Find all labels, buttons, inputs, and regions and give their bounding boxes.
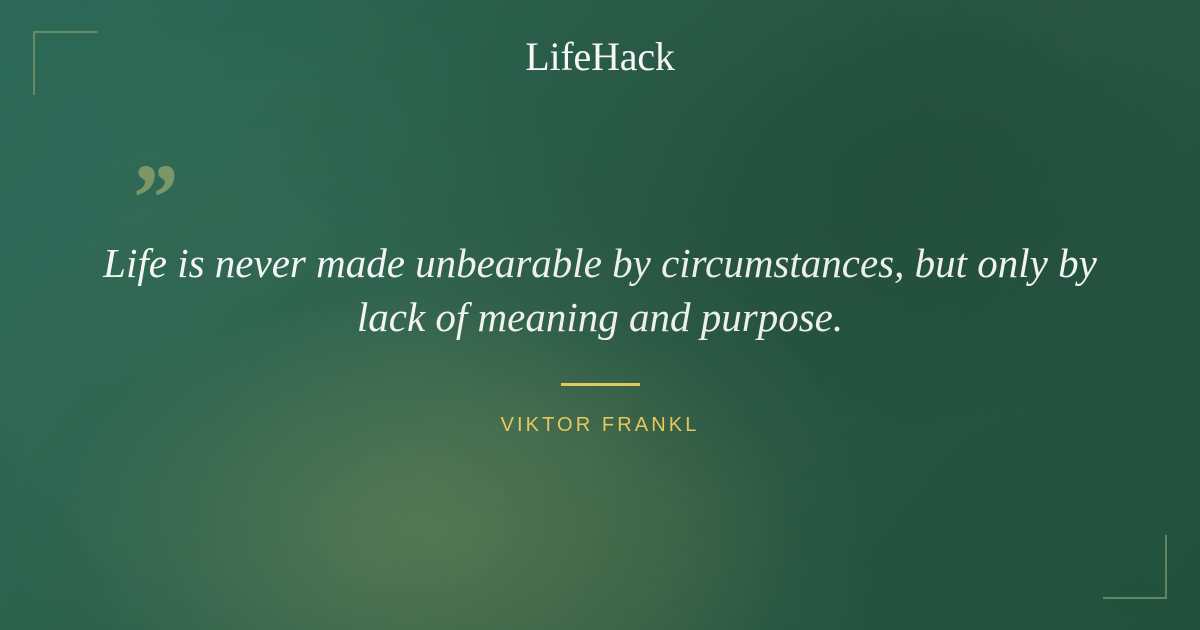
quotation-mark-icon: ”	[128, 150, 176, 246]
corner-bracket-bottom-right-icon	[1103, 535, 1167, 599]
quote-line: Life is never made unbearable by circums…	[80, 236, 1120, 290]
author-attribution: VIKTOR FRANKL	[0, 414, 1200, 437]
divider-rule	[561, 383, 640, 386]
quote-text: Life is never made unbearable by circums…	[80, 236, 1120, 344]
quote-card: LifeHack ” Life is never made unbearable…	[0, 0, 1200, 630]
brand-logo[interactable]: LifeHack	[0, 37, 1200, 77]
quote-line: lack of meaning and purpose.	[80, 290, 1120, 344]
